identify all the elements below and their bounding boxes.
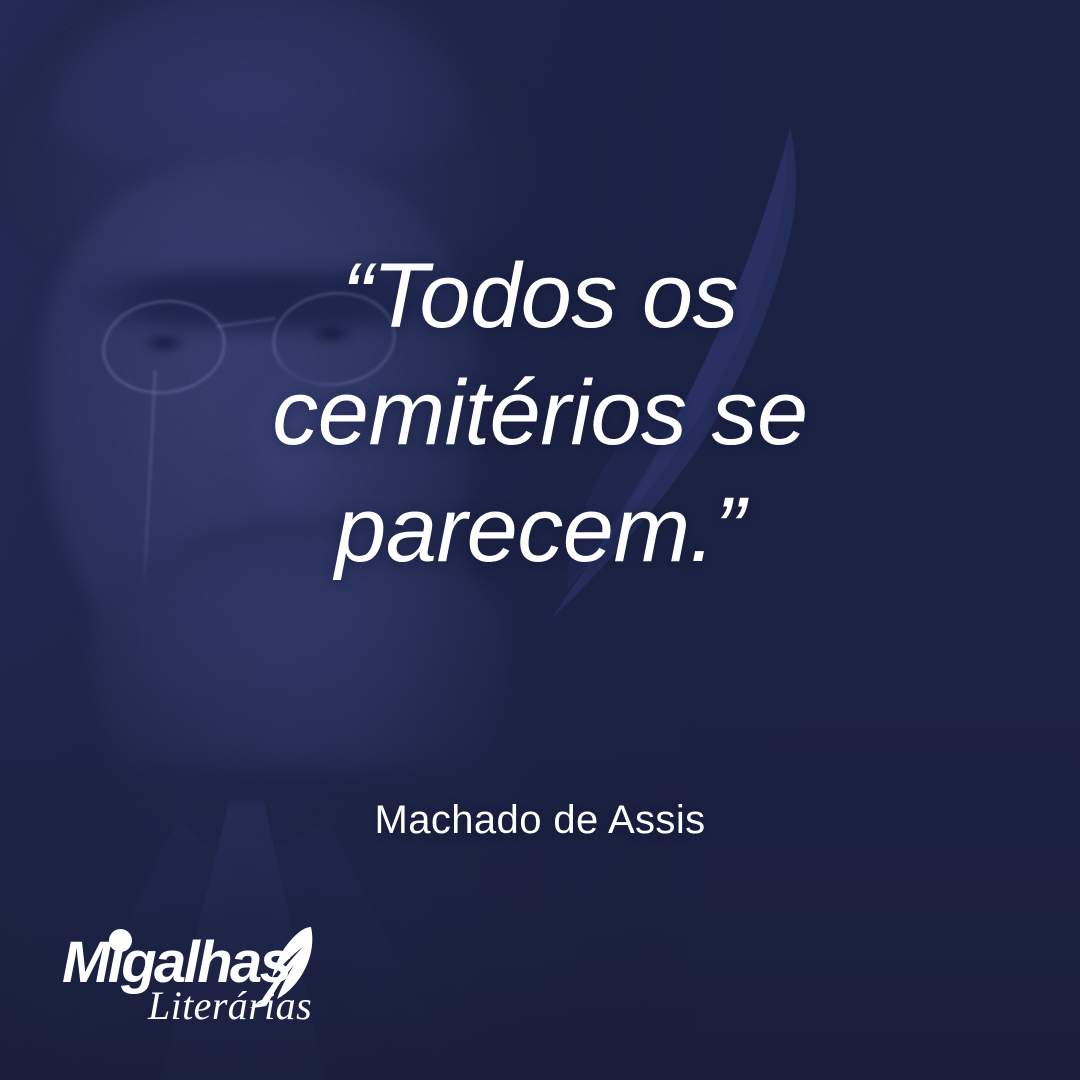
logo-i-dot-icon xyxy=(109,929,132,952)
logo-row: Migalhas Literárias xyxy=(62,928,362,1032)
quote-card: “Todos os cemitérios se parecem.” Machad… xyxy=(0,0,1080,1080)
card-content: “Todos os cemitérios se parecem.” Machad… xyxy=(0,0,1080,1080)
quote-text: “Todos os cemitérios se parecem.” xyxy=(150,238,930,588)
quill-feather-icon xyxy=(248,924,322,1008)
quote-block: “Todos os cemitérios se parecem.” xyxy=(150,238,930,588)
migalhas-literarias-logo[interactable]: Migalhas Literárias xyxy=(62,928,362,1032)
quote-author: Machado de Assis xyxy=(110,798,970,843)
